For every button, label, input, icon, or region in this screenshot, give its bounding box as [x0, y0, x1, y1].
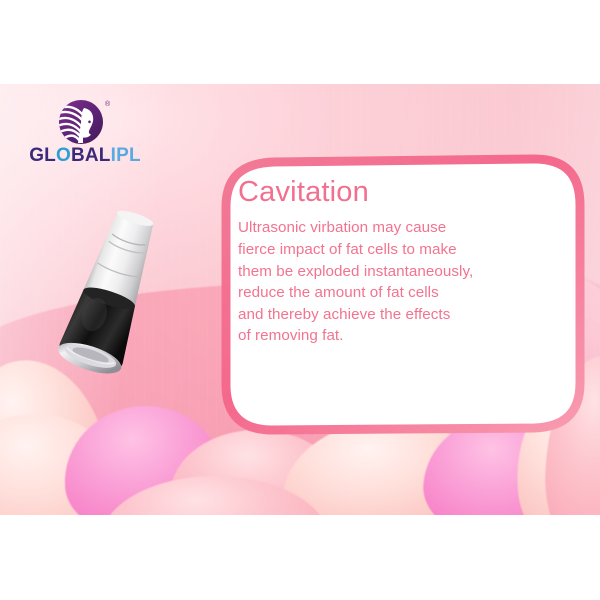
- panel-content: Cavitation Ultrasonic virbation may caus…: [238, 173, 562, 419]
- panel-body-line: fierce impact of fat cells to make: [238, 239, 562, 261]
- panel-body-line: reduce the amount of fat cells: [238, 282, 562, 304]
- wordmark-part: BAL: [71, 145, 111, 166]
- panel-body-line: and thereby achieve the effects: [238, 304, 562, 326]
- page-title: Cavitation: [238, 177, 562, 207]
- registered-trademark-icon: ®: [105, 101, 110, 108]
- panel-body-text: Ultrasonic virbation may causefierce imp…: [238, 217, 562, 346]
- panel-body-line: Ultrasonic virbation may cause: [238, 217, 562, 239]
- wordmark-part: O: [56, 145, 71, 166]
- brand-logo: ® GLOBALIPL: [12, 99, 158, 173]
- wordmark-part: GL: [29, 145, 56, 166]
- content-panel: Cavitation Ultrasonic virbation may caus…: [216, 153, 588, 437]
- wordmark-part: IPL: [111, 145, 141, 166]
- brand-wordmark: GLOBALIPL: [12, 146, 158, 165]
- image-canvas: ® GLOBALIPL: [0, 0, 600, 600]
- woman-face-profile-circle-icon: [58, 99, 104, 145]
- panel-body-line: of removing fat.: [238, 325, 562, 347]
- panel-body-line: them be exploded instantaneously,: [238, 261, 562, 283]
- cavitation-handpiece-icon: [30, 210, 210, 405]
- marketing-banner: ® GLOBALIPL: [0, 84, 600, 515]
